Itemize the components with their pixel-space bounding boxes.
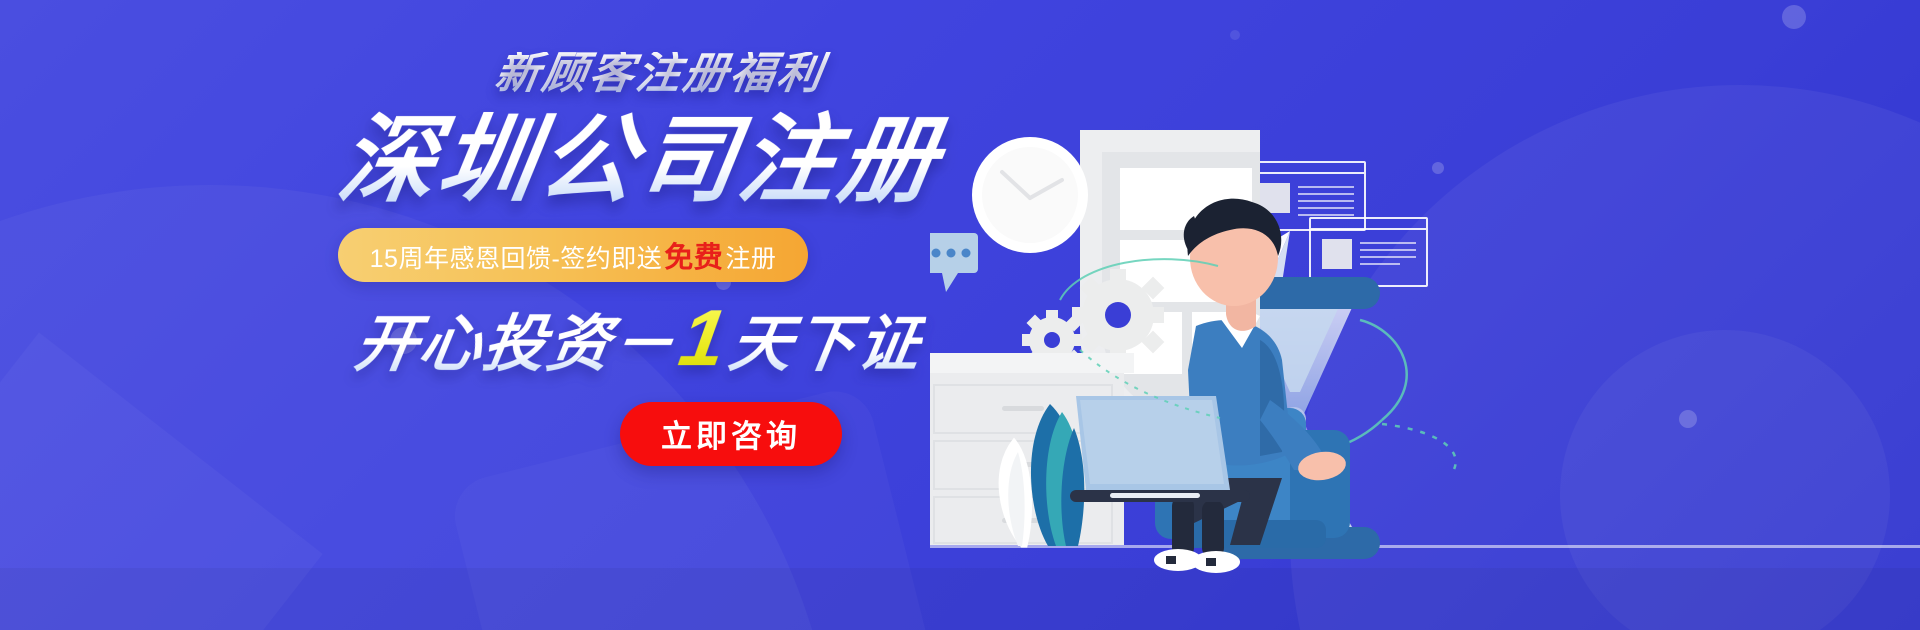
promo-suffix: 注册 bbox=[725, 245, 776, 273]
consult-now-button[interactable]: 立即咨询 bbox=[620, 402, 842, 466]
wall-clock-icon bbox=[972, 137, 1088, 253]
tagline-before: 开心投资－ bbox=[350, 310, 681, 379]
eyebrow-text: 新顾客注册福利 bbox=[327, 52, 954, 96]
chat-bubble-icon bbox=[930, 233, 978, 292]
document-card-bottom-thumb bbox=[1322, 239, 1352, 269]
promo-pill-text: 15周年感恩回馈-签约即送免费注册 bbox=[370, 234, 777, 276]
copy-block: 新顾客注册福利 深圳公司注册 15周年感恩回馈-签约即送免费注册 开心投资－1天… bbox=[330, 52, 950, 466]
decor-shape-left bbox=[0, 332, 323, 630]
promo-banner: 新顾客注册福利 深圳公司注册 15周年感恩回馈-签约即送免费注册 开心投资－1天… bbox=[0, 0, 1920, 630]
promo-prefix: 15周年感恩回馈-签约即送 bbox=[370, 245, 663, 273]
document-card-top-lines bbox=[1298, 187, 1354, 215]
ground-line bbox=[930, 545, 1920, 548]
promo-pill: 15周年感恩回馈-签约即送免费注册 bbox=[338, 228, 808, 282]
gear-large-icon bbox=[1072, 269, 1164, 361]
promo-highlight: 免费 bbox=[662, 242, 725, 274]
page-title: 深圳公司注册 bbox=[322, 110, 958, 212]
consult-now-button-label: 立即咨询 bbox=[661, 411, 801, 456]
hero-illustration bbox=[930, 0, 1920, 630]
tagline: 开心投资－1天下证 bbox=[323, 296, 956, 380]
tagline-after: 天下证 bbox=[725, 310, 928, 379]
document-card-bottom-lines bbox=[1360, 243, 1416, 264]
